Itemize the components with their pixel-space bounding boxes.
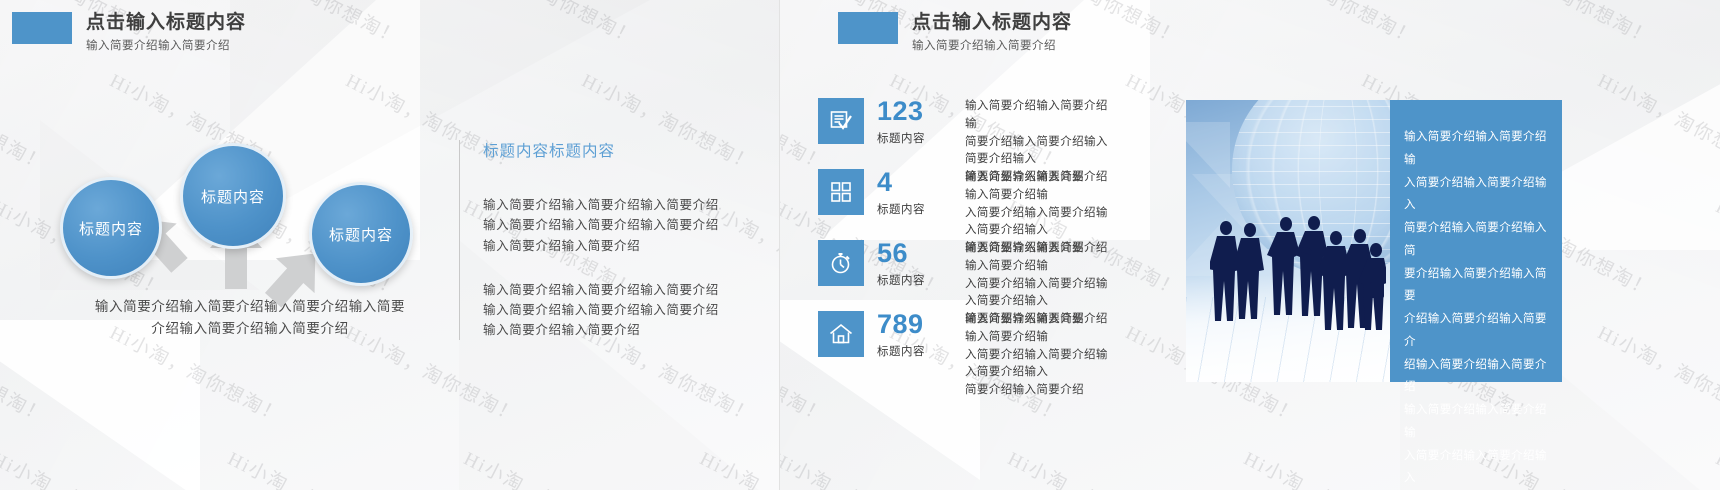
stat-value-group-4: 789 标题内容: [877, 311, 965, 359]
column-divider: [459, 140, 460, 340]
business-people-globe-photo: [1186, 100, 1390, 382]
paragraph-line: 输入简要介绍输入简要介绍输入简要介绍: [483, 215, 733, 235]
column-paragraph-1: 输入简要介绍输入简要介绍输入简要介绍 输入简要介绍输入简要介绍输入简要介绍 输入…: [483, 195, 733, 256]
diagram-caption-line-2: 介绍输入简要介绍输入简要介绍: [55, 318, 445, 340]
stat-desc-line: 输入简要介绍输入简要介绍输入简要介绍输: [965, 169, 1117, 205]
watermark-text: Hi小淘，淘你想淘！: [1476, 0, 1658, 51]
page-title: 点击输入标题内容: [912, 12, 1072, 34]
stat-desc-line: 输入简要介绍输入简要介绍输入简要介绍输: [965, 240, 1117, 276]
bluebox-line: 介绍输入简要介绍输入简要介: [1404, 308, 1548, 354]
header-accent-bar: [838, 12, 898, 44]
watermark-text: Hi小淘，淘你想淘！: [1594, 318, 1720, 429]
watermark-text: Hi小淘，淘你想淘！: [1712, 0, 1720, 51]
watermark-text: Hi小淘，淘你想淘！: [696, 0, 779, 51]
stat-desc-line: 入简要介绍输入简要介绍输入简要介绍输入: [965, 276, 1117, 312]
stat-desc-line: 输入简要介绍输入简要介绍输: [965, 98, 1117, 134]
paragraph-line: 输入简要介绍输入简要介绍: [483, 236, 733, 256]
slide-deck-canvas: Hi小淘，淘你想淘！Hi小淘，淘你想淘！Hi小淘，淘你想淘！Hi小淘，淘你想淘！…: [0, 0, 1720, 490]
slide-left-header: 点击输入标题内容 输入简要介绍输入简要介绍: [12, 12, 246, 53]
slide-left-text-column: 标题内容标题内容 输入简要介绍输入简要介绍输入简要介绍 输入简要介绍输入简要介绍…: [483, 139, 733, 341]
stat-value-group-3: 56 标题内容: [877, 240, 965, 288]
paragraph-line: 输入简要介绍输入简要介绍输入简要介绍: [483, 280, 733, 300]
header-accent-bar: [12, 12, 72, 44]
bluebox-line: 入简要介绍输入简要介绍输入: [1404, 172, 1548, 218]
stat-value-group-2: 4 标题内容: [877, 169, 965, 217]
paragraph-line: 输入简要介绍输入简要介绍输入简要介绍: [483, 300, 733, 320]
watermark-text: Hi小淘，淘你想淘！: [0, 318, 52, 429]
stat-desc-line: 简要介绍输入简要介绍输入简要介绍输入: [965, 134, 1117, 170]
circle-node-2-label: 标题内容: [201, 186, 265, 207]
watermark-text: Hi小淘，淘你想淘！: [460, 0, 642, 51]
slide-left: Hi小淘，淘你想淘！Hi小淘，淘你想淘！Hi小淘，淘你想淘！Hi小淘，淘你想淘！…: [0, 0, 780, 490]
watermark-text: Hi小淘，淘你想淘！: [0, 66, 52, 177]
circle-node-1-label: 标题内容: [79, 218, 143, 239]
stat-number: 4: [877, 169, 965, 196]
bluebox-line: 绍输入简要介绍输入简要介绍: [1404, 354, 1548, 400]
bluebox-line: 简要介绍输入简要介绍输入简: [1404, 217, 1548, 263]
stat-label: 标题内容: [877, 130, 965, 146]
diagram-caption-line-1: 输入简要介绍输入简要介绍输入简要介绍输入简要: [55, 296, 445, 318]
stat-desc-line: 入简要介绍输入简要介绍输入简要介绍输入: [965, 205, 1117, 241]
page-subtitle: 输入简要介绍输入简要介绍: [912, 37, 1072, 53]
watermark-text: Hi小淘，淘你想淘！: [224, 0, 406, 51]
circle-node-1[interactable]: 标题内容: [60, 177, 162, 279]
bluebox-line: 入简要介绍输入简要介绍输入: [1404, 445, 1548, 490]
circle-node-3[interactable]: 标题内容: [309, 182, 413, 286]
stat-number: 123: [877, 98, 965, 125]
home-icon: [818, 311, 864, 357]
circle-node-2[interactable]: 标题内容: [180, 143, 286, 249]
stopwatch-icon: [818, 240, 864, 286]
slide-right-header: 点击输入标题内容 输入简要介绍输入简要介绍: [838, 12, 1072, 53]
stat-desc-line: 简要介绍输入简要介绍: [965, 382, 1117, 400]
stat-label: 标题内容: [877, 201, 965, 217]
bluebox-line: 输入简要介绍输入简要介绍输: [1404, 126, 1548, 172]
stat-label: 标题内容: [877, 272, 965, 288]
page-subtitle: 输入简要介绍输入简要介绍: [86, 37, 246, 53]
stat-description-4: 输入简要介绍输入简要介绍输入简要介绍输 入简要介绍输入简要介绍输入简要介绍输入 …: [965, 311, 1117, 400]
bluebox-line: 输入简要介绍输入简要介绍输: [1404, 399, 1548, 445]
watermark-text: Hi小淘，淘你想淘！: [1004, 444, 1186, 490]
document-check-icon: [818, 98, 864, 144]
watermark-text: Hi小淘，淘你想淘！: [1594, 66, 1720, 177]
bg-facet: [0, 320, 200, 490]
column-title: 标题内容标题内容: [483, 139, 733, 161]
watermark-text: Hi小淘，淘你想淘！: [1712, 192, 1720, 303]
diagram-caption: 输入简要介绍输入简要介绍输入简要介绍输入简要 介绍输入简要介绍输入简要介绍: [55, 296, 445, 339]
grid-squares-icon: [818, 169, 864, 215]
paragraph-line: 输入简要介绍输入简要介绍输入简要介绍: [483, 195, 733, 215]
watermark-text: Hi小淘，淘你想淘！: [224, 444, 406, 490]
watermark-text: Hi小淘，淘你想淘！: [1712, 444, 1720, 490]
stat-row-4[interactable]: 789 标题内容 输入简要介绍输入简要介绍输入简要介绍输 入简要介绍输入简要介绍…: [818, 311, 1117, 400]
stat-number: 56: [877, 240, 965, 267]
blue-description-panel: 输入简要介绍输入简要介绍输 入简要介绍输入简要介绍输入 简要介绍输入简要介绍输入…: [1390, 100, 1562, 382]
stat-desc-line: 入简要介绍输入简要介绍输入简要介绍输入: [965, 347, 1117, 383]
stat-value-group-1: 123 标题内容: [877, 98, 965, 146]
page-title: 点击输入标题内容: [86, 12, 246, 34]
watermark-text: Hi小淘，淘你想淘！: [696, 444, 779, 490]
column-paragraph-2: 输入简要介绍输入简要介绍输入简要介绍 输入简要介绍输入简要介绍输入简要介绍 输入…: [483, 280, 733, 341]
watermark-text: Hi小淘，淘你想淘！: [1240, 0, 1422, 51]
paragraph-line: 输入简要介绍输入简要介绍: [483, 320, 733, 340]
stat-number: 789: [877, 311, 965, 338]
watermark-text: Hi小淘，淘你想淘！: [460, 444, 642, 490]
stat-label: 标题内容: [877, 343, 965, 359]
slide-right: Hi小淘，淘你想淘！Hi小淘，淘你想淘！Hi小淘，淘你想淘！Hi小淘，淘你想淘！…: [780, 0, 1720, 490]
stat-desc-line: 输入简要介绍输入简要介绍输入简要介绍输: [965, 311, 1117, 347]
watermark-text: Hi小淘，淘你想淘！: [780, 444, 950, 490]
circle-node-3-label: 标题内容: [329, 224, 393, 245]
bluebox-line: 要介绍输入简要介绍输入简要: [1404, 263, 1548, 309]
watermark-text: Hi小淘，淘你想淘！: [1240, 444, 1422, 490]
watermark-text: Hi小淘，淘你想淘！: [0, 444, 170, 490]
